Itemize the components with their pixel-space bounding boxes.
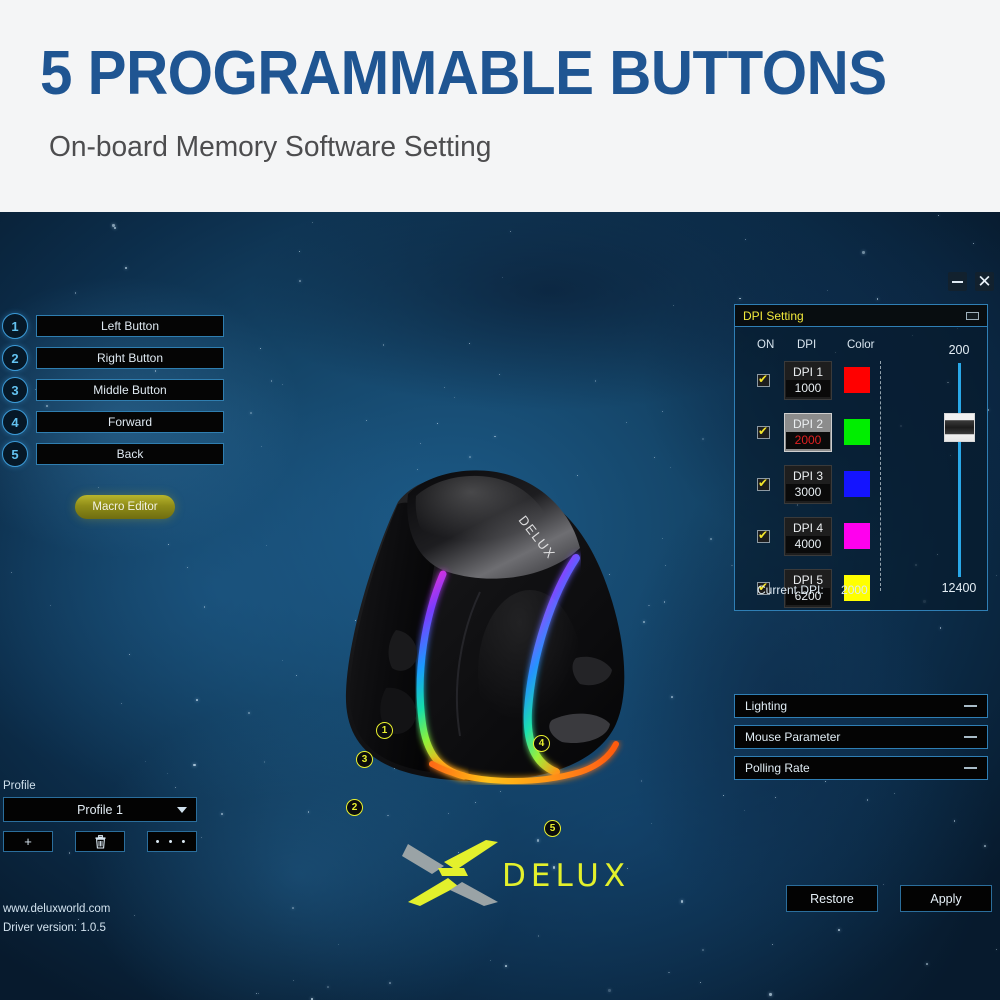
window-controls: ✕ — [948, 272, 994, 291]
profile-select[interactable]: Profile 1 — [3, 797, 197, 822]
footer-info: www.deluxworld.com Driver version: 1.0.5 — [3, 900, 110, 938]
dpi-1-color-swatch[interactable] — [844, 367, 870, 393]
button-assignment-forward[interactable]: Forward — [36, 411, 224, 433]
button-assignment-list: 1 Left Button 2 Right Button 3 Middle Bu… — [0, 310, 232, 470]
dpi-2-box[interactable]: DPI 2 2000 — [784, 413, 832, 452]
page-subtitle: On-board Memory Software Setting — [49, 131, 491, 164]
dpi-3-box[interactable]: DPI 3 3000 — [784, 465, 832, 504]
button-assignment-left[interactable]: Left Button — [36, 315, 224, 337]
profile-label: Profile — [3, 780, 210, 792]
mouse-callout-5: 5 — [544, 820, 561, 837]
mouse-callout-1: 1 — [376, 722, 393, 739]
page-title: 5 PROGRAMMABLE BUTTONS — [40, 38, 887, 109]
dpi-slider-max-label: 200 — [931, 343, 987, 357]
dpi-2-value: 2000 — [786, 432, 830, 449]
section-lighting-label: Lighting — [745, 699, 787, 713]
button-number-badge: 5 — [2, 441, 28, 467]
delux-logo-mark — [398, 840, 508, 906]
dpi-2-name: DPI 2 — [793, 416, 823, 432]
collapsed-sections: Lighting Mouse Parameter Polling Rate — [734, 694, 988, 787]
mouse-callout-2: 2 — [346, 799, 363, 816]
dpi-4-color-swatch[interactable] — [844, 523, 870, 549]
current-dpi-label: Current DPI: — [757, 583, 824, 597]
minimize-icon[interactable] — [948, 272, 967, 291]
button-row: 2 Right Button — [0, 342, 232, 374]
button-row: 3 Middle Button — [0, 374, 232, 406]
macro-editor-button[interactable]: Macro Editor — [75, 495, 175, 519]
apply-button[interactable]: Apply — [900, 885, 992, 912]
restore-button[interactable]: Restore — [786, 885, 878, 912]
dpi-3-value: 3000 — [786, 484, 830, 501]
dpi-panel-title: DPI Setting — [743, 309, 804, 323]
dpi-slider-track[interactable] — [958, 363, 961, 577]
section-mouse-parameter-label: Mouse Parameter — [745, 730, 840, 744]
dpi-1-box[interactable]: DPI 1 1000 — [784, 361, 832, 400]
dpi-4-checkbox[interactable] — [757, 530, 770, 543]
profile-actions: + • • • — [3, 831, 210, 852]
collapse-icon[interactable] — [966, 312, 979, 320]
button-row: 1 Left Button — [0, 310, 232, 342]
mouse-callout-3: 3 — [356, 751, 373, 768]
button-number-badge: 1 — [2, 313, 28, 339]
collapse-icon[interactable] — [964, 767, 977, 769]
button-number-badge: 2 — [2, 345, 28, 371]
header-banner: 5 PROGRAMMABLE BUTTONS On-board Memory S… — [0, 0, 1000, 212]
website-url: www.deluxworld.com — [3, 900, 110, 919]
delete-profile-button[interactable] — [75, 831, 125, 852]
button-number-badge: 4 — [2, 409, 28, 435]
dpi-slider-handle[interactable] — [944, 413, 975, 442]
dpi-3-name: DPI 3 — [793, 468, 823, 484]
dpi-panel-body: ON DPI Color DPI 1 1000 DPI 2 — [735, 327, 987, 610]
current-dpi: Current DPI: 2000 — [757, 583, 868, 597]
dpi-setting-panel: DPI Setting ON DPI Color DPI 1 1000 — [734, 304, 988, 611]
section-mouse-parameter[interactable]: Mouse Parameter — [734, 725, 988, 749]
close-icon[interactable]: ✕ — [975, 272, 994, 291]
mouse-callout-4: 4 — [533, 735, 550, 752]
column-header-dpi: DPI — [797, 339, 829, 351]
dpi-3-checkbox[interactable] — [757, 478, 770, 491]
section-lighting[interactable]: Lighting — [734, 694, 988, 718]
delux-logo-text: DELUX — [502, 858, 630, 894]
add-profile-button[interactable]: + — [3, 831, 53, 852]
app-window: ✕ 1 Left Button 2 Right Button 3 Middle … — [0, 212, 1000, 1000]
button-assignment-middle[interactable]: Middle Button — [36, 379, 224, 401]
trash-icon — [94, 835, 107, 849]
column-header-color: Color — [847, 339, 883, 351]
dpi-4-name: DPI 4 — [793, 520, 823, 536]
more-options-button[interactable]: • • • — [147, 831, 197, 852]
dpi-1-name: DPI 1 — [793, 364, 823, 380]
button-number-badge: 3 — [2, 377, 28, 403]
dpi-3-color-swatch[interactable] — [844, 471, 870, 497]
column-header-on: ON — [757, 339, 779, 351]
section-polling-rate[interactable]: Polling Rate — [734, 756, 988, 780]
dpi-1-checkbox[interactable] — [757, 374, 770, 387]
profile-section: Profile Profile 1 + • • • — [0, 780, 210, 852]
mouse-product-image: DELUX 1 2 3 4 5 — [280, 372, 680, 792]
current-dpi-value: 2000 — [841, 583, 868, 597]
button-row: 4 Forward — [0, 406, 232, 438]
profile-selected-value: Profile 1 — [77, 803, 123, 817]
button-assignment-back[interactable]: Back — [36, 443, 224, 465]
dpi-2-checkbox[interactable] — [757, 426, 770, 439]
action-buttons: Restore Apply — [786, 885, 992, 912]
panel-divider — [880, 361, 881, 591]
button-assignment-right[interactable]: Right Button — [36, 347, 224, 369]
dpi-4-box[interactable]: DPI 4 4000 — [784, 517, 832, 556]
delux-logo: DELUX — [398, 840, 618, 910]
dpi-panel-titlebar: DPI Setting — [735, 305, 987, 327]
collapse-icon[interactable] — [964, 736, 977, 738]
section-polling-rate-label: Polling Rate — [745, 761, 810, 775]
dpi-2-color-swatch[interactable] — [844, 419, 870, 445]
dpi-slider-min-label: 12400 — [931, 581, 987, 595]
dpi-4-value: 4000 — [786, 536, 830, 553]
driver-version: Driver version: 1.0.5 — [3, 919, 110, 938]
chevron-down-icon — [177, 807, 187, 813]
dpi-1-value: 1000 — [786, 380, 830, 397]
button-row: 5 Back — [0, 438, 232, 470]
dpi-slider[interactable]: 200 12400 — [931, 345, 1000, 595]
collapse-icon[interactable] — [964, 705, 977, 707]
